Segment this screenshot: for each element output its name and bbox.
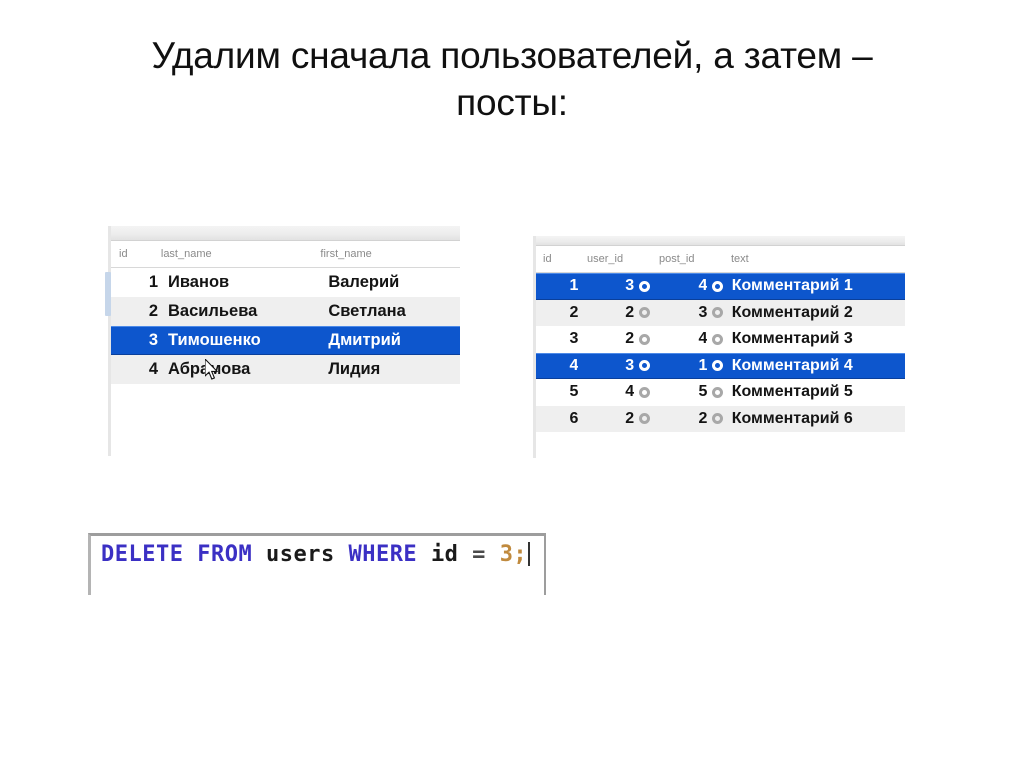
table-row[interactable]: 223Комментарий 2 [536, 300, 905, 327]
cell-id: 2 [111, 302, 158, 321]
comments-grid-body: 134Комментарий 1223Комментарий 2324Комме… [536, 273, 905, 432]
cell-id: 1 [536, 277, 578, 295]
fk-link-ring-icon [712, 281, 723, 292]
sql-token [417, 542, 431, 567]
cell-id: 3 [536, 330, 578, 348]
table-row[interactable]: 3ТимошенкоДмитрий [111, 326, 460, 355]
sql-token [335, 542, 349, 567]
cell-text: Комментарий 5 [725, 383, 905, 401]
column-header-last-name[interactable]: last_name [161, 248, 321, 260]
sql-token: id [431, 542, 459, 567]
sql-statement-line[interactable]: DELETE FROM users WHERE id = 3; [91, 536, 544, 567]
cell-user-id: 2 [578, 304, 634, 322]
cell-text: Комментарий 4 [725, 357, 905, 375]
user-id-fk-link[interactable] [634, 304, 651, 322]
fk-link-ring-icon [639, 387, 650, 398]
cell-id: 2 [536, 304, 578, 322]
user-id-fk-link[interactable] [634, 277, 651, 295]
table-row[interactable]: 545Комментарий 5 [536, 379, 905, 406]
cell-id: 3 [111, 331, 158, 350]
cell-user-id: 2 [578, 330, 634, 348]
table-row[interactable]: 622Комментарий 6 [536, 406, 905, 433]
cell-first-name: Лидия [320, 360, 460, 379]
cell-post-id: 4 [652, 330, 708, 348]
page-title: Удалим сначала пользователей, а затем – … [96, 32, 928, 127]
cell-id: 6 [536, 410, 578, 428]
cell-user-id: 4 [578, 383, 634, 401]
text-caret-icon [528, 542, 530, 566]
post-id-fk-link[interactable] [707, 304, 724, 322]
user-id-fk-link[interactable] [634, 330, 651, 348]
cell-id: 4 [536, 357, 578, 375]
cell-post-id: 2 [652, 410, 708, 428]
cell-id: 4 [111, 360, 158, 379]
cell-first-name: Валерий [320, 273, 460, 292]
cell-text: Комментарий 2 [725, 304, 905, 322]
users-grid-header-row: id last_name first_name [111, 241, 460, 268]
cell-id: 5 [536, 383, 578, 401]
sql-token: users [266, 542, 335, 567]
cell-last-name: Иванов [158, 273, 320, 292]
fk-link-ring-icon [639, 307, 650, 318]
column-header-id[interactable]: id [536, 253, 587, 265]
sql-token [252, 542, 266, 567]
sql-token [183, 542, 197, 567]
user-id-fk-link[interactable] [634, 410, 651, 428]
cell-last-name: Васильева [158, 302, 320, 321]
users-grid-toolbar-strip [111, 226, 460, 241]
table-row[interactable]: 431Комментарий 4 [536, 353, 905, 380]
cell-user-id: 3 [578, 357, 634, 375]
fk-link-ring-icon [712, 387, 723, 398]
fk-link-ring-icon [712, 413, 723, 424]
cell-first-name: Дмитрий [320, 331, 460, 350]
users-grid-scrollbar-thumb[interactable] [105, 272, 111, 316]
fk-link-ring-icon [712, 334, 723, 345]
cell-post-id: 4 [652, 277, 708, 295]
cell-id: 1 [111, 273, 158, 292]
fk-link-ring-icon [639, 413, 650, 424]
comments-grid-header-row: id user_id post_id text [536, 246, 905, 273]
table-row[interactable]: 324Комментарий 3 [536, 326, 905, 353]
sql-token: WHERE [348, 542, 417, 567]
table-row[interactable]: 1ИвановВалерий [111, 268, 460, 297]
column-header-post-id[interactable]: post_id [659, 253, 731, 265]
sql-token: 3; [500, 542, 528, 567]
post-id-fk-link[interactable] [707, 383, 724, 401]
column-header-user-id[interactable]: user_id [587, 253, 659, 265]
sql-editor-panel[interactable]: DELETE FROM users WHERE id = 3; [88, 533, 546, 595]
table-row[interactable]: 4АбрамоваЛидия [111, 355, 460, 384]
column-header-first-name[interactable]: first_name [320, 248, 460, 260]
sql-token: DELETE [101, 542, 183, 567]
users-grid-body: 1ИвановВалерий2ВасильеваСветлана3Тимошен… [111, 268, 460, 384]
cell-post-id: 1 [652, 357, 708, 375]
cell-user-id: 2 [578, 410, 634, 428]
post-id-fk-link[interactable] [707, 330, 724, 348]
table-row[interactable]: 134Комментарий 1 [536, 273, 905, 300]
comments-result-grid[interactable]: id user_id post_id text 134Комментарий 1… [533, 236, 905, 458]
post-id-fk-link[interactable] [707, 357, 724, 375]
user-id-fk-link[interactable] [634, 357, 651, 375]
fk-link-ring-icon [712, 360, 723, 371]
fk-link-ring-icon [712, 307, 723, 318]
column-header-id[interactable]: id [111, 248, 161, 260]
comments-grid-toolbar-strip [536, 236, 905, 246]
post-id-fk-link[interactable] [707, 410, 724, 428]
cell-user-id: 3 [578, 277, 634, 295]
fk-link-ring-icon [639, 334, 650, 345]
cell-post-id: 3 [652, 304, 708, 322]
sql-token: = [458, 542, 499, 567]
fk-link-ring-icon [639, 360, 650, 371]
cell-last-name: Тимошенко [158, 331, 320, 350]
cell-text: Комментарий 6 [725, 410, 905, 428]
users-result-grid[interactable]: id last_name first_name 1ИвановВалерий2В… [108, 226, 460, 456]
cell-post-id: 5 [652, 383, 708, 401]
user-id-fk-link[interactable] [634, 383, 651, 401]
cell-text: Комментарий 1 [725, 277, 905, 295]
table-row[interactable]: 2ВасильеваСветлана [111, 297, 460, 326]
post-id-fk-link[interactable] [707, 277, 724, 295]
cell-text: Комментарий 3 [725, 330, 905, 348]
cell-last-name: Абрамова [158, 360, 320, 379]
column-header-text[interactable]: text [731, 253, 841, 265]
cell-first-name: Светлана [320, 302, 460, 321]
sql-token: FROM [197, 542, 252, 567]
fk-link-ring-icon [639, 281, 650, 292]
users-grid-empty-space [111, 384, 460, 424]
